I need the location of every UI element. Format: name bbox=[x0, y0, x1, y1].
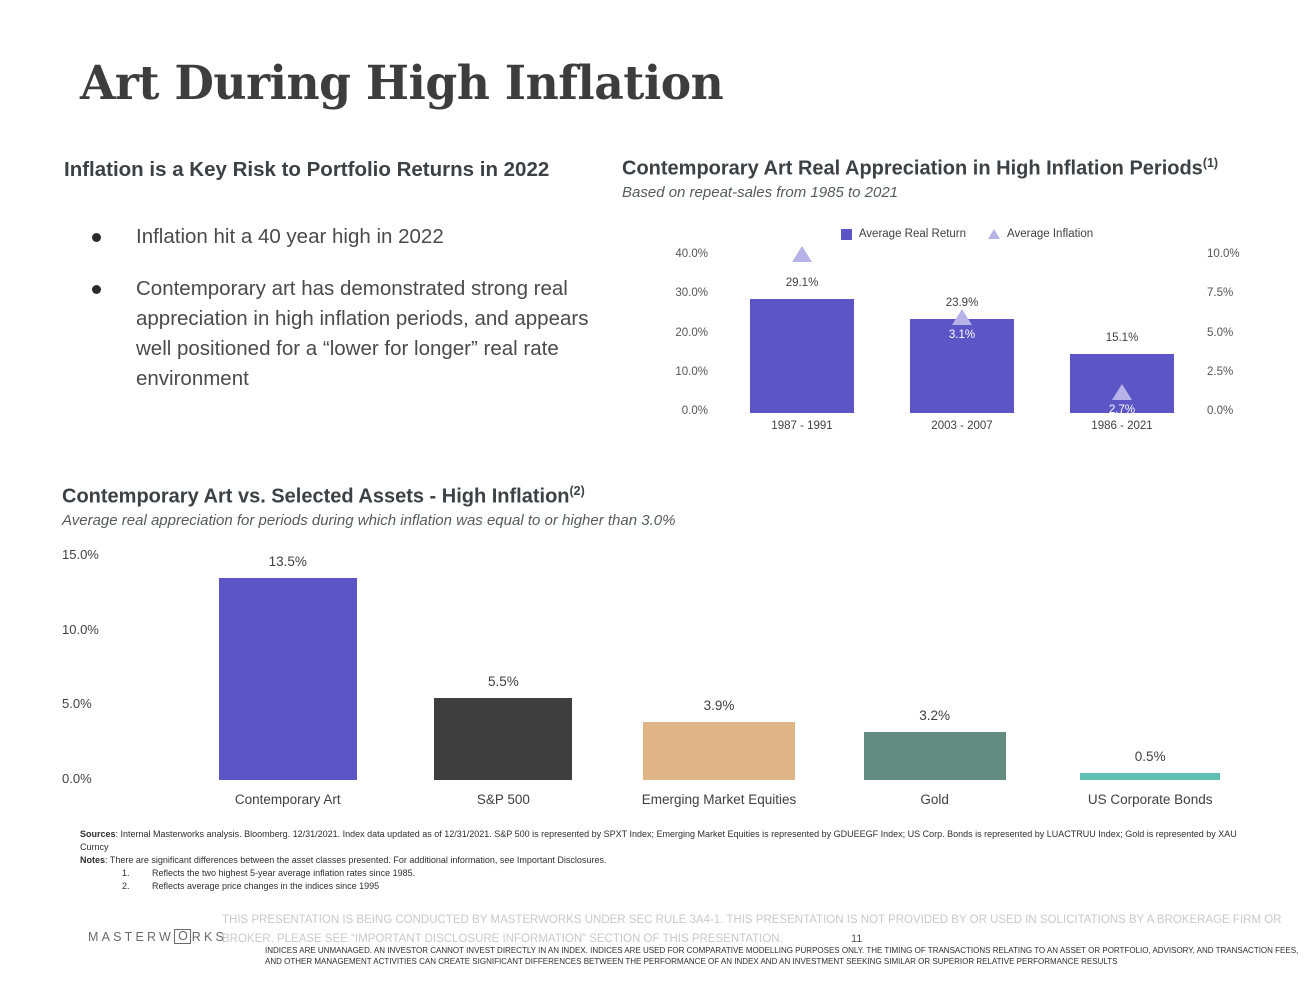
footnote-notes-label: Notes bbox=[80, 855, 105, 865]
footnote-notes-text: : There are significant differences betw… bbox=[105, 855, 606, 865]
y-axis-tick-right: 5.0% bbox=[1207, 327, 1233, 339]
x-axis-category-label: US Corporate Bonds bbox=[1042, 792, 1258, 807]
bar-value-label: 3.9% bbox=[643, 698, 795, 713]
chart-subtitle: Average real appreciation for periods du… bbox=[62, 512, 675, 529]
legend-item-average-inflation[interactable]: Average Inflation bbox=[988, 228, 1093, 240]
x-axis-category-label: 1986 - 2021 bbox=[1042, 420, 1202, 432]
footnote-number-text: Reflects average price changes in the in… bbox=[152, 880, 379, 893]
disclaimer-bottom: INDICES ARE UNMANAGED. AN INVESTOR CANNO… bbox=[265, 946, 1305, 967]
bar-value-label: 3.2% bbox=[864, 708, 1006, 723]
marker-average-inflation-triangle-icon bbox=[1112, 384, 1132, 400]
x-axis-category-label: Emerging Market Equities bbox=[611, 792, 827, 807]
footnote-notes: Notes: There are significant differences… bbox=[80, 854, 1260, 867]
bar-contemporary-art[interactable]: 13.5% bbox=[219, 578, 357, 780]
legend-item-average-real-return[interactable]: Average Real Return bbox=[841, 228, 966, 240]
disclaimer-top: THIS PRESENTATION IS BEING CONDUCTED BY … bbox=[222, 911, 1304, 949]
bar-value-label: 5.5% bbox=[434, 674, 572, 689]
x-axis-category-label: 2003 - 2007 bbox=[882, 420, 1042, 432]
y-axis-tick-left: 10.0% bbox=[636, 366, 708, 378]
y-axis-tick: 10.0% bbox=[62, 622, 118, 637]
bar-value-label: 29.1% bbox=[750, 277, 854, 289]
bar-emerging-market-equities[interactable]: 3.9% bbox=[643, 722, 795, 780]
page-number: 11 bbox=[851, 933, 862, 945]
marker-value-label: 2.7% bbox=[1070, 404, 1174, 416]
y-axis-tick-left: 30.0% bbox=[636, 287, 708, 299]
footnotes: Sources: Internal Masterworks analysis. … bbox=[80, 828, 1260, 893]
y-axis-tick-right: 7.5% bbox=[1207, 287, 1233, 299]
legend-label: Average Real Return bbox=[859, 228, 966, 240]
footnote-numbered-2: 2. Reflects average price changes in the… bbox=[80, 880, 1260, 893]
logo-boxed-o: O bbox=[174, 929, 191, 944]
masterworks-logo: MASTERWORKS bbox=[88, 929, 227, 944]
marker-value-label: 3.1% bbox=[910, 329, 1014, 341]
footnote-number: 1. bbox=[80, 867, 152, 880]
footnote-number: 2. bbox=[80, 880, 152, 893]
y-axis-tick: 15.0% bbox=[62, 547, 118, 562]
bullet-dot-icon bbox=[92, 233, 101, 242]
x-axis-category-label: S&P 500 bbox=[396, 792, 612, 807]
bar-gold[interactable]: 3.2% bbox=[864, 732, 1006, 780]
legend-triangle-icon bbox=[988, 229, 1000, 239]
bullet-text: Inflation hit a 40 year high in 2022 bbox=[136, 222, 444, 252]
bullet-text: Contemporary art has demonstrated strong… bbox=[136, 274, 622, 394]
chart-title-text: Contemporary Art Real Appreciation in Hi… bbox=[622, 158, 1203, 180]
left-panel-heading: Inflation is a Key Risk to Portfolio Ret… bbox=[64, 158, 549, 182]
bar-s-p-500[interactable]: 5.5% bbox=[434, 698, 572, 780]
marker-average-inflation-triangle-icon bbox=[792, 246, 812, 262]
chart-subtitle: Based on repeat-sales from 1985 to 2021 bbox=[622, 184, 1312, 201]
y-axis-tick-right: 10.0% bbox=[1207, 248, 1240, 260]
legend-square-icon bbox=[841, 229, 852, 240]
chart-legend: Average Real Return Average Inflation bbox=[622, 228, 1312, 240]
bullet-list: Inflation hit a 40 year high in 2022 Con… bbox=[92, 222, 622, 416]
y-axis-tick: 0.0% bbox=[62, 771, 118, 786]
chart-title-text: Contemporary Art vs. Selected Assets - H… bbox=[62, 486, 570, 508]
y-axis-tick: 5.0% bbox=[62, 696, 118, 711]
chart-header-high-inflation-periods: Contemporary Art Real Appreciation in Hi… bbox=[622, 156, 1312, 201]
marker-average-inflation-triangle-icon bbox=[952, 309, 972, 325]
chart-title: Contemporary Art vs. Selected Assets - H… bbox=[62, 484, 675, 509]
footnote-sources-text: : Internal Masterworks analysis. Bloombe… bbox=[80, 829, 1237, 852]
chart-title-superscript: (1) bbox=[1203, 156, 1218, 170]
legend-label: Average Inflation bbox=[1007, 228, 1093, 240]
bar-us-corporate-bonds[interactable]: 0.5% bbox=[1080, 773, 1220, 780]
bar-value-label: 13.5% bbox=[219, 554, 357, 569]
footnote-numbered-1: 1. Reflects the two highest 5-year avera… bbox=[80, 867, 1260, 880]
bar-average-real-return[interactable]: 15.1%2.7% bbox=[1070, 354, 1174, 413]
chart-plot-art-vs-selected-assets: 15.0%10.0%5.0%0.0%13.5%Contemporary Art5… bbox=[62, 548, 1262, 786]
bar-value-label: 15.1% bbox=[1070, 332, 1174, 344]
y-axis-tick-left: 40.0% bbox=[636, 248, 708, 260]
slide-root: Art During High Inflation Inflation is a… bbox=[0, 0, 1316, 986]
logo-text-part1: MASTERW bbox=[88, 930, 174, 944]
footnote-number-text: Reflects the two highest 5-year average … bbox=[152, 867, 415, 880]
x-axis-category-label: Gold bbox=[827, 792, 1043, 807]
marker-value-label: 4.5% bbox=[750, 266, 854, 278]
chart-plot-high-inflation-periods: 40.0%30.0%20.0%10.0%0.0%10.0%7.5%5.0%2.5… bbox=[622, 248, 1312, 438]
footnote-sources-label: Sources bbox=[80, 829, 116, 839]
y-axis-tick-left: 20.0% bbox=[636, 327, 708, 339]
bar-average-real-return[interactable]: 29.1%4.5% bbox=[750, 299, 854, 413]
footnote-sources: Sources: Internal Masterworks analysis. … bbox=[80, 828, 1260, 854]
list-item: Inflation hit a 40 year high in 2022 bbox=[92, 222, 622, 252]
bar-value-label: 0.5% bbox=[1080, 749, 1220, 764]
page-title: Art During High Inflation bbox=[80, 56, 723, 111]
y-axis-tick-right: 2.5% bbox=[1207, 366, 1233, 378]
chart-header-art-vs-selected-assets: Contemporary Art vs. Selected Assets - H… bbox=[62, 484, 675, 529]
bar-average-real-return[interactable]: 23.9%3.1% bbox=[910, 319, 1014, 413]
chart-title: Contemporary Art Real Appreciation in Hi… bbox=[622, 156, 1312, 181]
x-axis-category-label: Contemporary Art bbox=[180, 792, 396, 807]
chart-title-superscript: (2) bbox=[570, 484, 585, 498]
bullet-dot-icon bbox=[92, 285, 101, 294]
bar-value-label: 23.9% bbox=[910, 297, 1014, 309]
y-axis-tick-right: 0.0% bbox=[1207, 405, 1233, 417]
x-axis-category-label: 1987 - 1991 bbox=[722, 420, 882, 432]
y-axis-tick-left: 0.0% bbox=[636, 405, 708, 417]
list-item: Contemporary art has demonstrated strong… bbox=[92, 274, 622, 394]
